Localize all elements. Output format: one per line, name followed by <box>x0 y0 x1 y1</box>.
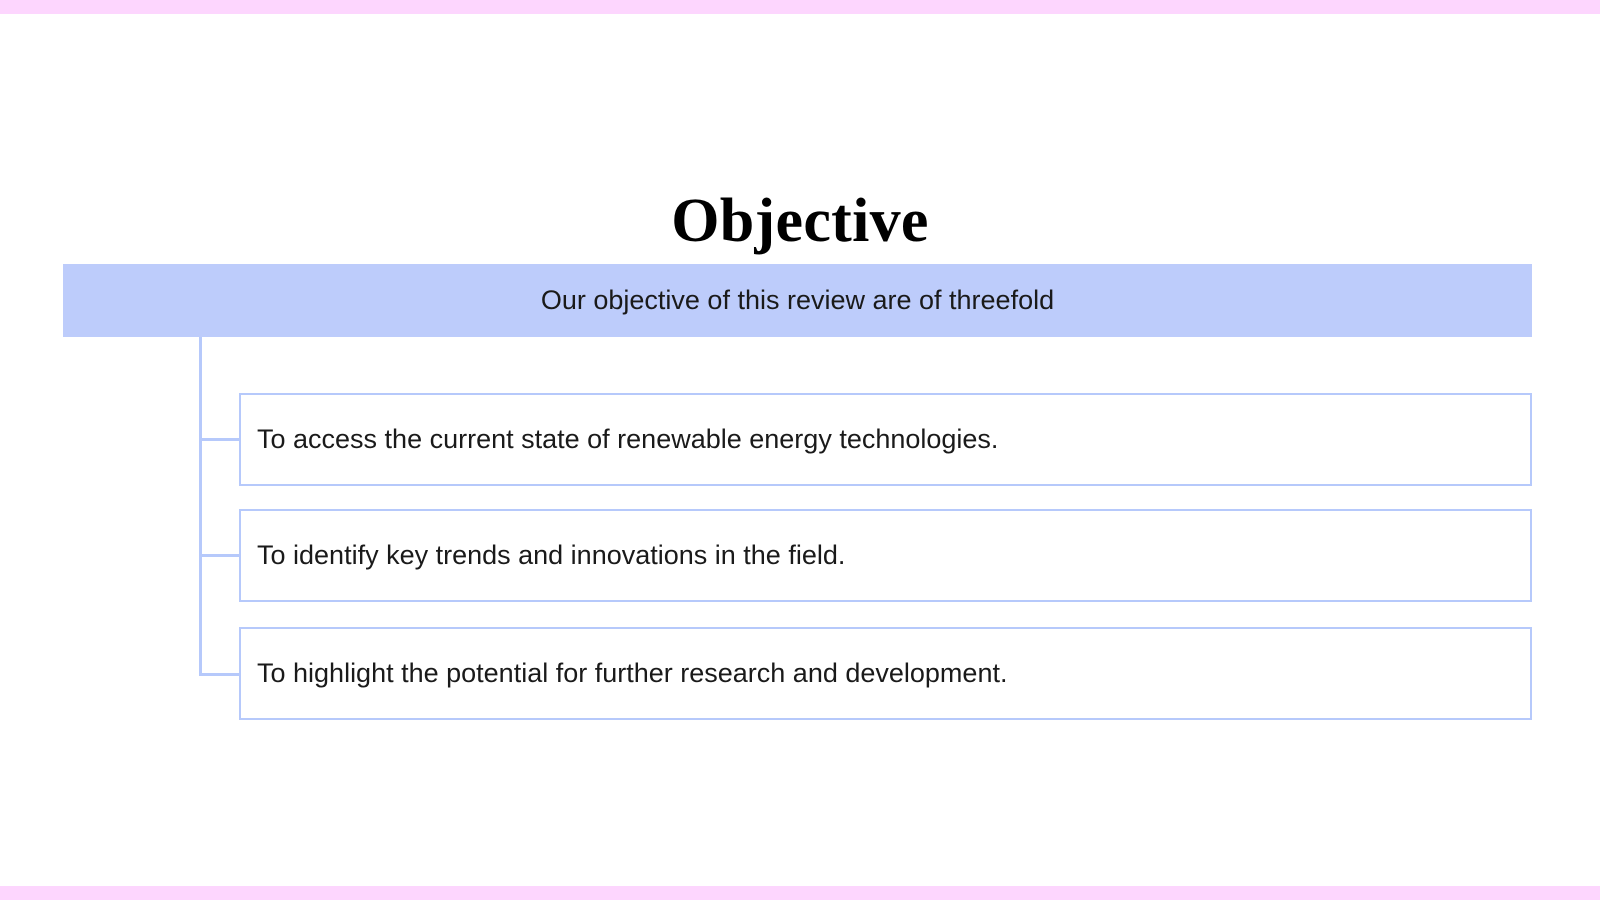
connector-stub-2 <box>199 554 240 557</box>
page-title: Objective <box>0 190 1600 252</box>
connector-trunk-line <box>199 337 202 676</box>
slide-canvas: Objective Our objective of this review a… <box>0 14 1600 886</box>
diagram-child-node[interactable]: To highlight the potential for further r… <box>239 627 1532 720</box>
diagram-child-node[interactable]: To identify key trends and innovations i… <box>239 509 1532 602</box>
diagram-child-node[interactable]: To access the current state of renewable… <box>239 393 1532 486</box>
diagram-root-node[interactable]: Our objective of this review are of thre… <box>63 264 1532 337</box>
decorative-bottom-strip <box>0 886 1600 900</box>
decorative-top-strip <box>0 0 1600 14</box>
diagram-child-label: To identify key trends and innovations i… <box>241 539 861 573</box>
diagram-root-label: Our objective of this review are of thre… <box>541 284 1054 316</box>
diagram-child-label: To access the current state of renewable… <box>241 423 1014 457</box>
connector-stub-1 <box>199 438 240 441</box>
connector-stub-3 <box>199 673 240 676</box>
diagram-child-label: To highlight the potential for further r… <box>241 657 1023 691</box>
